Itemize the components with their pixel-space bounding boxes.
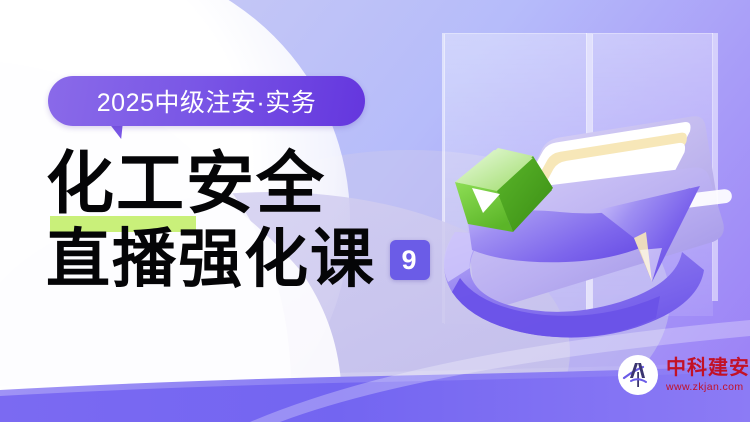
brand-url: www.zkjan.com: [666, 382, 750, 393]
bg-panel-divider-right: [712, 33, 718, 301]
headline-line-2: 直播强化课 9: [46, 228, 476, 292]
headline-line-2-text: 直播强化课: [46, 228, 376, 292]
zkjan-emblem-glyph: [621, 358, 655, 392]
bg-panel-divider-center: [586, 33, 592, 318]
brand-name: 中科建安: [666, 358, 750, 378]
bg-panel-right: [592, 33, 713, 316]
headline-block: 化工安全 直播强化课 9: [46, 150, 476, 292]
zkjan-emblem-icon: [618, 355, 658, 395]
headline-line-1: 化工安全: [46, 150, 476, 218]
episode-number-badge: 9: [390, 240, 430, 280]
brand-logo-text: 中科建安 www.zkjan.com: [666, 358, 750, 393]
course-category-badge: 2025中级注安·实务: [48, 76, 365, 126]
course-poster: 2025中级注安·实务 化工安全 直播强化课 9 中科建安 www.zkjan.: [0, 0, 750, 422]
brand-logo: 中科建安 www.zkjan.com: [618, 355, 750, 395]
headline-line-1-text: 化工安全: [46, 146, 326, 222]
course-category-label: 2025中级注安·实务: [97, 83, 316, 119]
